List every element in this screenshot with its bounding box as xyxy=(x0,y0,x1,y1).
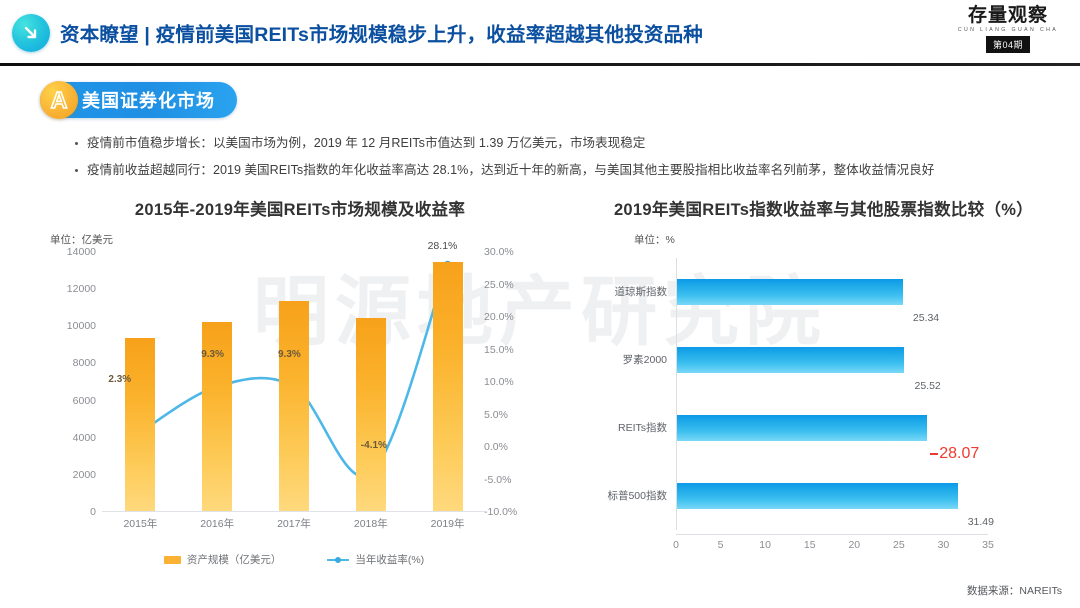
data-label: -4.1% xyxy=(361,440,387,451)
section-badge: A 美国证券化市场 xyxy=(40,80,237,120)
x-axis-tick: 0 xyxy=(661,539,691,551)
y-axis-tick-right: 30.0% xyxy=(484,247,536,258)
arrow-down-right-circle-icon xyxy=(12,14,50,52)
y-axis-tick-left: 0 xyxy=(44,507,96,518)
y-axis-tick-right: 25.0% xyxy=(484,280,536,291)
data-label: 9.3% xyxy=(201,349,224,360)
chart-legend: 资产规模（亿美元） 当年收益率(%) xyxy=(102,552,486,567)
section-letter-circle: A xyxy=(40,81,78,119)
y-axis-tick-right: 10.0% xyxy=(484,377,536,388)
y-axis-left: 14000120001000080006000400020000 xyxy=(44,252,96,512)
brand-pinyin: CUN LIANG GUAN CHA xyxy=(952,27,1064,33)
bar-row: REITs指数28.07 xyxy=(677,415,927,441)
combo-plot: 14000120001000080006000400020000 30.0%25… xyxy=(18,252,564,542)
y-axis-tick-left: 2000 xyxy=(44,470,96,481)
chart-index-comparison: 2019年美国REITs指数收益率与其他股票指数比较（%） 单位：% 道琼斯指数… xyxy=(566,196,1071,596)
value-label: 28.07 xyxy=(939,441,979,467)
bar xyxy=(677,415,927,441)
data-label: 9.3% xyxy=(278,349,301,360)
legend-label: 资产规模（亿美元） xyxy=(187,552,282,567)
legend-swatch-bar-icon xyxy=(164,556,181,564)
y-axis-tick-left: 6000 xyxy=(44,396,96,407)
x-axis: 2015年2016年2017年2018年2019年 xyxy=(102,516,486,536)
legend-item-line: 当年收益率(%) xyxy=(327,552,424,567)
y-axis-tick-left: 12000 xyxy=(44,284,96,295)
chart-title: 2019年美国REITs指数收益率与其他股票指数比较（%） xyxy=(566,196,1071,220)
x-axis-tick: 5 xyxy=(706,539,736,551)
bar-row: 道琼斯指数25.34 xyxy=(677,279,903,305)
data-label: 2.3% xyxy=(108,374,131,385)
y-axis-tick-left: 4000 xyxy=(44,433,96,444)
x-axis-tick: 2015年 xyxy=(110,516,170,531)
x-axis-tick: 2016年 xyxy=(187,516,247,531)
x-axis-tick: 25 xyxy=(884,539,914,551)
bar-row: 罗素200025.52 xyxy=(677,347,904,373)
bar xyxy=(279,301,309,511)
x-axis-tick: 30 xyxy=(928,539,958,551)
plot-area: 道琼斯指数25.34罗素200025.52REITs指数28.07标普500指数… xyxy=(676,258,988,530)
horizontal-bar-plot: 道琼斯指数25.34罗素200025.52REITs指数28.07标普500指数… xyxy=(566,252,1071,552)
issue-badge: 第04期 xyxy=(986,36,1030,53)
bullet-list: 疫情前市值稳步增长：以美国市场为例，2019 年 12 月REITs市值达到 1… xyxy=(74,130,1064,184)
bar xyxy=(125,338,155,511)
chart-title: 2015年-2019年美国REITs市场规模及收益率 xyxy=(18,196,564,220)
x-axis-tick: 10 xyxy=(750,539,780,551)
y-axis-tick-right: 15.0% xyxy=(484,345,536,356)
page-title: 资本瞭望 | 疫情前美国REITs市场规模稳步上升，收益率超越其他投资品种 xyxy=(60,18,703,47)
value-label: 31.49 xyxy=(968,509,994,535)
bar xyxy=(356,318,386,511)
value-label: 25.52 xyxy=(914,373,940,399)
data-label: 28.1% xyxy=(428,240,458,252)
bar-row: 标普500指数31.49 xyxy=(677,483,958,509)
legend-swatch-line-icon xyxy=(327,555,349,565)
y-axis-tick-right: -10.0% xyxy=(484,507,536,518)
bar xyxy=(433,262,463,511)
legend-item-bar: 资产规模（亿美元） xyxy=(164,552,282,567)
section-letter: A xyxy=(51,89,68,112)
y-axis-right: 30.0%25.0%20.0%15.0%10.0%5.0%0.0%-5.0%-1… xyxy=(484,252,536,512)
y-axis-tick-left: 14000 xyxy=(44,247,96,258)
x-axis: 05101520253035 xyxy=(676,534,988,552)
x-axis-tick: 20 xyxy=(839,539,869,551)
brand-logo: 存量观察 CUN LIANG GUAN CHA 第04期 xyxy=(952,5,1064,53)
brand-name: 存量观察 xyxy=(952,5,1064,26)
page-header: 资本瞭望 | 疫情前美国REITs市场规模稳步上升，收益率超越其他投资品种 存量… xyxy=(0,0,1080,66)
category-label: REITs指数 xyxy=(577,415,677,441)
y-axis-tick-right: 20.0% xyxy=(484,312,536,323)
bar xyxy=(677,347,904,373)
y-axis-tick-left: 8000 xyxy=(44,358,96,369)
plot-area: 2.3%9.3%9.3%-4.1%28.1% xyxy=(102,252,486,512)
bar xyxy=(677,279,903,305)
y-axis-tick-left: 10000 xyxy=(44,321,96,332)
category-label: 道琼斯指数 xyxy=(577,279,677,305)
value-label: 25.34 xyxy=(913,305,939,331)
chart-unit-label: 单位：% xyxy=(634,232,1071,247)
x-axis-tick: 2017年 xyxy=(264,516,324,531)
bar xyxy=(677,483,958,509)
list-item: 疫情前市值稳步增长：以美国市场为例，2019 年 12 月REITs市值达到 1… xyxy=(74,130,1064,157)
category-label: 标普500指数 xyxy=(577,483,677,509)
y-axis-tick-right: 0.0% xyxy=(484,442,536,453)
chart-combo-market-size: 2015年-2019年美国REITs市场规模及收益率 单位：亿美元 140001… xyxy=(18,196,564,596)
source-note: 数据来源：NAREITs xyxy=(967,583,1062,598)
category-label: 罗素2000 xyxy=(577,347,677,373)
y-axis-tick-right: -5.0% xyxy=(484,475,536,486)
x-axis-tick: 2018年 xyxy=(341,516,401,531)
x-axis-tick: 2019年 xyxy=(418,516,478,531)
list-item: 疫情前收益超越同行：2019 美国REITs指数的年化收益率高达 28.1%，达… xyxy=(74,157,1064,184)
chart-unit-label: 单位：亿美元 xyxy=(50,232,564,247)
x-axis-tick: 15 xyxy=(795,539,825,551)
legend-label: 当年收益率(%) xyxy=(355,552,424,567)
x-axis-tick: 35 xyxy=(973,539,1003,551)
y-axis-tick-right: 5.0% xyxy=(484,410,536,421)
